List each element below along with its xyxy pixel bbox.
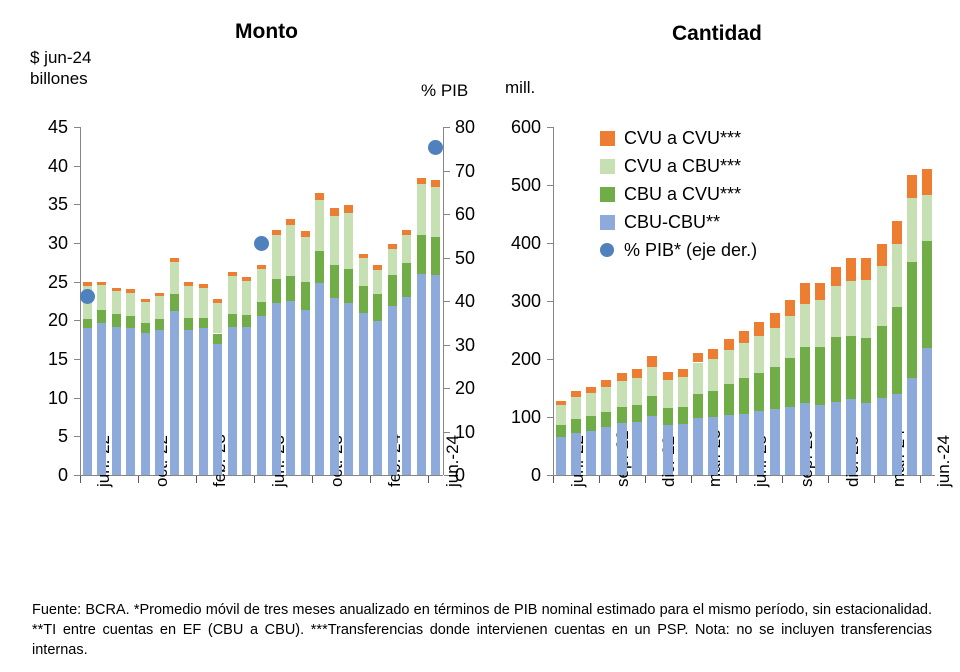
bar — [373, 265, 382, 475]
bar — [155, 293, 164, 476]
bar-segment — [800, 304, 810, 348]
bar-segment — [571, 433, 581, 475]
bar-segment — [724, 350, 734, 384]
bar-segment — [846, 399, 856, 475]
bar — [170, 258, 179, 475]
bar-segment — [359, 286, 368, 313]
bar-segment — [184, 330, 193, 475]
y-axis-tick-label: 20 — [12, 311, 68, 329]
y-axis-tick — [547, 417, 553, 418]
bar — [556, 401, 566, 475]
bar — [846, 258, 856, 475]
bar-segment — [286, 225, 295, 276]
bar-segment — [141, 333, 150, 475]
bar-segment — [708, 417, 718, 475]
bar — [770, 313, 780, 475]
y-axis-tick — [74, 127, 80, 128]
bar-segment — [877, 266, 887, 326]
y-axis-tick — [74, 282, 80, 283]
bar-segment — [242, 315, 251, 327]
bar-segment — [586, 416, 596, 431]
bar — [286, 219, 295, 475]
secondary-y-axis-tick-label: 30 — [455, 336, 475, 354]
secondary-y-axis-tick — [444, 432, 450, 433]
x-axis-tick — [645, 476, 646, 483]
legend-item-label: CBU a CVU*** — [624, 184, 741, 205]
bar-segment — [286, 276, 295, 301]
bar-segment — [861, 338, 871, 403]
bar-segment — [907, 198, 917, 262]
bar-segment — [556, 405, 566, 424]
bar-segment — [586, 393, 596, 416]
bar-segment — [846, 281, 856, 337]
bar — [892, 221, 902, 475]
y-axis-tick-label: 0 — [485, 466, 541, 484]
bar — [785, 300, 795, 475]
x-axis-tick — [428, 476, 429, 483]
legend-item-label: CVU a CVU*** — [624, 128, 741, 149]
bar — [617, 373, 627, 475]
bar-segment — [242, 327, 251, 475]
bar-segment — [97, 282, 106, 285]
bar-segment — [315, 200, 324, 250]
legend: CVU a CVU***CVU a CBU***CBU a CVU***CBU-… — [600, 124, 757, 264]
bar-segment — [301, 237, 310, 282]
bar-segment — [724, 339, 734, 350]
bar-segment — [373, 270, 382, 294]
bar-segment — [739, 343, 749, 378]
bar-segment — [770, 367, 780, 409]
legend-square-icon — [600, 131, 615, 146]
bar-segment — [344, 303, 353, 475]
x-axis-tick — [736, 476, 737, 483]
legend-item[interactable]: CVU a CBU*** — [600, 152, 757, 180]
bar-segment — [861, 258, 871, 280]
legend-item[interactable]: CBU-CBU** — [600, 208, 757, 236]
left-chart-title: Monto — [235, 20, 298, 44]
secondary-y-axis-tick — [444, 127, 450, 128]
x-axis-tick — [312, 476, 313, 483]
bar-segment — [373, 265, 382, 270]
bar-segment — [678, 369, 688, 377]
bar — [739, 331, 749, 475]
bar — [815, 283, 825, 475]
y-axis-tick — [74, 243, 80, 244]
y-axis-tick — [547, 359, 553, 360]
y-axis-tick-label: 5 — [12, 427, 68, 445]
x-axis-tick — [782, 476, 783, 483]
bar-segment — [83, 282, 92, 285]
bar-segment — [315, 283, 324, 475]
bar-segment — [877, 398, 887, 475]
bar — [417, 178, 426, 475]
bar-segment — [754, 373, 764, 411]
bar-segment — [846, 336, 856, 399]
y-axis-tick-label: 300 — [485, 292, 541, 310]
x-axis-tick — [138, 476, 139, 483]
bar-segment — [846, 258, 856, 281]
footnote: Fuente: BCRA. *Promedio móvil de tres me… — [32, 600, 932, 660]
bar-segment — [586, 387, 596, 393]
x-axis-tick — [254, 476, 255, 483]
figure-root: Monto Cantidad $ jun-24 billones % PIB m… — [0, 0, 960, 672]
x-axis-tick — [80, 476, 81, 483]
bar-segment — [693, 394, 703, 418]
legend-item-label: % PIB* (eje der.) — [624, 240, 757, 261]
secondary-y-axis-tick-label: 40 — [455, 292, 475, 310]
y-axis-tick-label: 0 — [12, 466, 68, 484]
x-axis-tick — [828, 476, 829, 483]
y-axis-tick-label: 10 — [12, 389, 68, 407]
bar-segment — [586, 431, 596, 475]
bar-segment — [141, 323, 150, 333]
bar-segment — [785, 300, 795, 316]
bar — [571, 391, 581, 475]
bar-segment — [571, 391, 581, 397]
bar — [141, 299, 150, 475]
bar — [431, 180, 440, 475]
bar — [388, 244, 397, 475]
bar-segment — [199, 328, 208, 475]
bar-segment — [170, 294, 179, 311]
bar-segment — [601, 387, 611, 411]
bar-segment — [800, 283, 810, 304]
y-axis-tick-label: 35 — [12, 195, 68, 213]
left-axis-unit-line2: billones — [30, 68, 91, 89]
bar-segment — [359, 313, 368, 475]
bar — [663, 372, 673, 475]
secondary-y-axis-tick-label: 80 — [455, 118, 475, 136]
bar — [83, 282, 92, 475]
bar-segment — [739, 414, 749, 475]
bar-segment — [815, 405, 825, 475]
monto-plot-area: 05101520253035404501020304050607080jun.-… — [80, 127, 443, 475]
bar-segment — [800, 403, 810, 475]
secondary-y-axis-tick — [444, 258, 450, 259]
pib-scatter-point — [80, 289, 95, 304]
bar-segment — [373, 321, 382, 475]
bar-segment — [388, 244, 397, 249]
bar-segment — [922, 241, 932, 348]
bar — [586, 387, 596, 475]
y-axis-tick — [74, 398, 80, 399]
bar-segment — [344, 213, 353, 269]
bar-segment — [330, 208, 339, 216]
x-axis-tick — [553, 476, 554, 483]
bar-segment — [126, 293, 135, 316]
bar — [402, 230, 411, 475]
bar-segment — [417, 184, 426, 235]
bar-segment — [754, 336, 764, 373]
bar-segment — [184, 282, 193, 286]
bar-segment — [170, 311, 179, 475]
bar-segment — [815, 347, 825, 406]
bar-segment — [417, 235, 426, 274]
bar-segment — [647, 416, 657, 475]
bar-segment — [770, 313, 780, 328]
secondary-axis-unit-label: % PIB — [421, 80, 468, 101]
bar-segment — [678, 407, 688, 424]
bar-segment — [155, 296, 164, 319]
bar-segment — [213, 334, 222, 345]
bar — [272, 230, 281, 475]
bar-segment — [330, 298, 339, 475]
y-axis-tick-label: 30 — [12, 234, 68, 252]
bar-segment — [770, 409, 780, 475]
bar-segment — [922, 195, 932, 241]
bar — [97, 282, 106, 475]
bar-segment — [330, 265, 339, 298]
bar-segment — [388, 306, 397, 475]
bar-segment — [617, 423, 627, 475]
bar — [877, 244, 887, 475]
bar-segment — [571, 419, 581, 432]
bar-segment — [632, 405, 642, 422]
secondary-y-axis-tick — [444, 214, 450, 215]
bar-segment — [907, 262, 917, 378]
bar-segment — [601, 427, 611, 475]
bar-segment — [242, 281, 251, 315]
bar — [228, 272, 237, 475]
x-axis-tick — [196, 476, 197, 483]
bar-segment — [693, 418, 703, 475]
bar-segment — [556, 437, 566, 475]
y-axis-line — [553, 127, 554, 475]
bar-segment — [388, 275, 397, 307]
y-axis-tick — [547, 243, 553, 244]
bar-segment — [800, 347, 810, 403]
bar-segment — [112, 314, 121, 326]
bar-segment — [785, 407, 795, 475]
bar-segment — [126, 289, 135, 292]
bar-segment — [892, 221, 902, 244]
legend-item-label: CBU-CBU** — [624, 212, 720, 233]
bar-segment — [739, 378, 749, 413]
bar-segment — [213, 344, 222, 475]
bar-segment — [330, 216, 339, 265]
bar-segment — [556, 401, 566, 406]
y-axis-tick-label: 40 — [12, 157, 68, 175]
bar-segment — [184, 318, 193, 330]
legend-item[interactable]: CBU a CVU*** — [600, 180, 757, 208]
right-chart-unit-label: mill. — [505, 77, 535, 98]
x-axis-tick — [920, 476, 921, 483]
bar-segment — [359, 254, 368, 259]
x-axis-tick — [691, 476, 692, 483]
bar-segment — [861, 280, 871, 338]
secondary-y-axis-tick — [444, 388, 450, 389]
bar-segment — [213, 303, 222, 334]
bar-segment — [402, 230, 411, 235]
bar-segment — [228, 276, 237, 314]
bar — [708, 349, 718, 475]
bar-segment — [257, 269, 266, 302]
bar-segment — [693, 363, 703, 395]
bar-segment — [831, 402, 841, 475]
bar-segment — [617, 407, 627, 423]
footnote-text: Fuente: BCRA. *Promedio móvil de tres me… — [32, 600, 932, 660]
bar-segment — [141, 302, 150, 324]
bar-segment — [272, 230, 281, 235]
bar — [907, 175, 917, 475]
bar — [112, 288, 121, 475]
legend-item-label: CVU a CBU*** — [624, 156, 741, 177]
bar — [800, 283, 810, 475]
y-axis-tick — [547, 127, 553, 128]
secondary-y-axis-tick-label: 70 — [455, 162, 475, 180]
bar-segment — [141, 299, 150, 302]
bar — [632, 369, 642, 475]
bar-segment — [663, 380, 673, 408]
secondary-y-axis-tick — [444, 301, 450, 302]
bar-segment — [199, 288, 208, 318]
bar-segment — [617, 373, 627, 381]
pib-scatter-point — [428, 140, 443, 155]
bar-segment — [708, 391, 718, 417]
bar-segment — [344, 205, 353, 213]
y-axis-tick — [74, 166, 80, 167]
bar — [831, 267, 841, 475]
bar-segment — [301, 310, 310, 475]
bar-segment — [617, 381, 627, 407]
y-axis-tick — [74, 320, 80, 321]
bar — [330, 208, 339, 475]
bar-segment — [632, 378, 642, 405]
x-axis-tick — [370, 476, 371, 483]
bar-segment — [831, 267, 841, 286]
bar-segment — [632, 422, 642, 475]
bar-segment — [724, 415, 734, 475]
bar — [647, 356, 657, 475]
left-axis-unit-label: $ jun-24 billones — [30, 47, 91, 89]
bar-segment — [228, 327, 237, 475]
y-axis-tick-label: 400 — [485, 234, 541, 252]
bar-segment — [170, 258, 179, 261]
bar-segment — [663, 408, 673, 424]
left-axis-unit-line1: $ jun-24 — [30, 47, 91, 68]
pib-scatter-point — [254, 236, 269, 251]
bar — [678, 369, 688, 475]
x-axis-tick-label: jun.-24 — [935, 435, 952, 487]
bar-segment — [907, 175, 917, 198]
bar — [199, 284, 208, 475]
bar-segment — [754, 322, 764, 335]
bar-segment — [571, 397, 581, 419]
bar-segment — [431, 187, 440, 237]
bar-segment — [693, 353, 703, 362]
bar-segment — [315, 193, 324, 201]
bar-segment — [647, 396, 657, 417]
y-axis-tick-label: 100 — [485, 408, 541, 426]
y-axis-tick-label: 200 — [485, 350, 541, 368]
y-axis-tick — [74, 436, 80, 437]
bar-segment — [922, 169, 932, 195]
bar-segment — [431, 180, 440, 186]
y-axis-tick-label: 15 — [12, 350, 68, 368]
bar-segment — [199, 284, 208, 288]
bar-segment — [815, 283, 825, 300]
bar-segment — [155, 330, 164, 475]
bar-segment — [112, 288, 121, 291]
bar-segment — [892, 307, 902, 394]
legend-item[interactable]: % PIB* (eje der.) — [600, 236, 757, 264]
bar-segment — [170, 262, 179, 294]
secondary-y-axis-tick-label: 20 — [455, 379, 475, 397]
bar-segment — [431, 275, 440, 475]
bar — [315, 193, 324, 475]
y-axis-tick-label: 25 — [12, 273, 68, 291]
bar-segment — [647, 356, 657, 367]
bar-segment — [97, 310, 106, 323]
bar-segment — [663, 372, 673, 380]
bar — [922, 169, 932, 475]
bar — [754, 322, 764, 475]
y-axis-tick — [74, 359, 80, 360]
bar — [242, 277, 251, 475]
bar-segment — [286, 219, 295, 225]
bar-segment — [388, 249, 397, 275]
bar-segment — [257, 265, 266, 268]
bar-segment — [257, 316, 266, 475]
x-axis-tick — [599, 476, 600, 483]
bar-segment — [678, 424, 688, 475]
secondary-y-axis-tick — [444, 171, 450, 172]
bar-segment — [785, 316, 795, 358]
bar-segment — [272, 303, 281, 475]
bar — [724, 339, 734, 475]
bar-segment — [785, 358, 795, 407]
bar-segment — [815, 300, 825, 346]
bar-segment — [272, 235, 281, 278]
bar-segment — [228, 272, 237, 276]
bar-segment — [831, 337, 841, 402]
x-axis-tick-label: jun.-24 — [444, 435, 461, 487]
bar-segment — [126, 316, 135, 328]
bar-segment — [242, 277, 251, 281]
bar-segment — [213, 299, 222, 302]
y-axis-tick-label: 500 — [485, 176, 541, 194]
bar-segment — [402, 263, 411, 297]
bar — [184, 282, 193, 475]
bar-segment — [257, 302, 266, 317]
bar-segment — [97, 323, 106, 475]
bar — [693, 353, 703, 475]
bar-segment — [286, 301, 295, 475]
y-axis-tick-label: 600 — [485, 118, 541, 136]
bar-segment — [301, 231, 310, 237]
bar-segment — [155, 319, 164, 330]
bar-segment — [877, 326, 887, 398]
bar — [301, 231, 310, 475]
bar-segment — [556, 425, 566, 437]
bar-segment — [724, 384, 734, 415]
legend-item[interactable]: CVU a CVU*** — [600, 124, 757, 152]
bar — [359, 254, 368, 475]
bar — [126, 289, 135, 475]
bar-segment — [739, 331, 749, 343]
bar-segment — [431, 237, 440, 276]
bar-segment — [770, 328, 780, 367]
bar-segment — [417, 274, 426, 475]
bar-segment — [708, 349, 718, 359]
bar-segment — [402, 235, 411, 263]
bar-segment — [373, 294, 382, 321]
bar-segment — [754, 411, 764, 475]
bar-segment — [155, 293, 164, 296]
bar-segment — [199, 318, 208, 328]
y-axis-tick — [547, 185, 553, 186]
bar-segment — [632, 369, 642, 378]
